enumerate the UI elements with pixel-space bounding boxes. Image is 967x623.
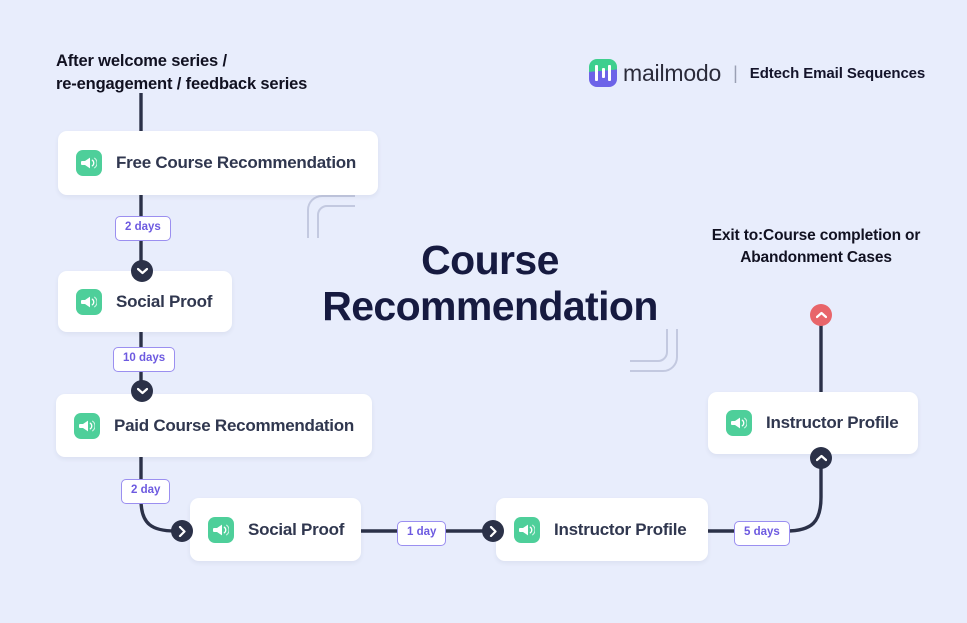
exit-annotation: Exit to:Course completion or Abandonment…: [690, 225, 942, 269]
delay-chip-2-day[interactable]: 2 day: [121, 479, 170, 504]
brand-name: mailmodo: [623, 60, 721, 87]
flow-node-instructor-profile-bottom[interactable]: Instructor Profile: [496, 498, 708, 561]
exit-chevron-up-icon[interactable]: [810, 304, 832, 326]
entry-annotation-line2: re-engagement / feedback series: [56, 73, 386, 96]
delay-chip-1-day[interactable]: 1 day: [397, 521, 446, 546]
megaphone-icon: [208, 517, 234, 543]
flow-node-label: Social Proof: [248, 520, 344, 540]
flow-canvas: mailmodo | Edtech Email Sequences After …: [0, 0, 967, 623]
delay-chip-10-days[interactable]: 10 days: [113, 347, 175, 372]
brand-subtitle: Edtech Email Sequences: [750, 65, 925, 82]
decorative-corner-top-left: [305, 193, 357, 239]
megaphone-icon: [514, 517, 540, 543]
megaphone-icon: [76, 289, 102, 315]
brand-header: mailmodo | Edtech Email Sequences: [589, 58, 925, 88]
flow-node-label: Instructor Profile: [554, 520, 686, 540]
page-title-line2: Recommendation: [300, 284, 680, 330]
chevron-right-icon[interactable]: [482, 520, 504, 542]
chevron-down-icon[interactable]: [131, 260, 153, 282]
chevron-right-icon[interactable]: [171, 520, 193, 542]
decorative-corner-bottom-right: [628, 328, 680, 374]
entry-annotation: After welcome series / re-engagement / f…: [56, 50, 386, 97]
flow-node-free-course-recommendation[interactable]: Free Course Recommendation: [58, 131, 378, 195]
connector-curve-to-instructor-right: [786, 458, 821, 531]
flow-node-label: Instructor Profile: [766, 413, 898, 433]
delay-chip-5-days[interactable]: 5 days: [734, 521, 790, 546]
chevron-up-icon[interactable]: [810, 447, 832, 469]
brand-separator: |: [733, 63, 738, 84]
exit-annotation-line1: Exit to:Course completion or: [690, 225, 942, 247]
page-title-line1: Course: [300, 238, 680, 284]
exit-annotation-line2: Abandonment Cases: [690, 247, 942, 269]
connector-curve-to-social-proof-2: [141, 500, 175, 531]
flow-node-label: Social Proof: [116, 292, 212, 312]
flow-node-instructor-profile-right[interactable]: Instructor Profile: [708, 392, 918, 454]
flow-node-social-proof-2[interactable]: Social Proof: [190, 498, 361, 561]
page-title: Course Recommendation: [300, 238, 680, 330]
delay-chip-2-days[interactable]: 2 days: [115, 216, 171, 241]
megaphone-icon: [76, 150, 102, 176]
megaphone-icon: [726, 410, 752, 436]
mailmodo-logo-icon: [589, 59, 617, 87]
megaphone-icon: [74, 413, 100, 439]
entry-annotation-line1: After welcome series /: [56, 50, 386, 73]
flow-node-paid-course-recommendation[interactable]: Paid Course Recommendation: [56, 394, 372, 457]
flow-node-label: Paid Course Recommendation: [114, 416, 354, 436]
flow-node-label: Free Course Recommendation: [116, 153, 356, 173]
chevron-down-icon[interactable]: [131, 380, 153, 402]
